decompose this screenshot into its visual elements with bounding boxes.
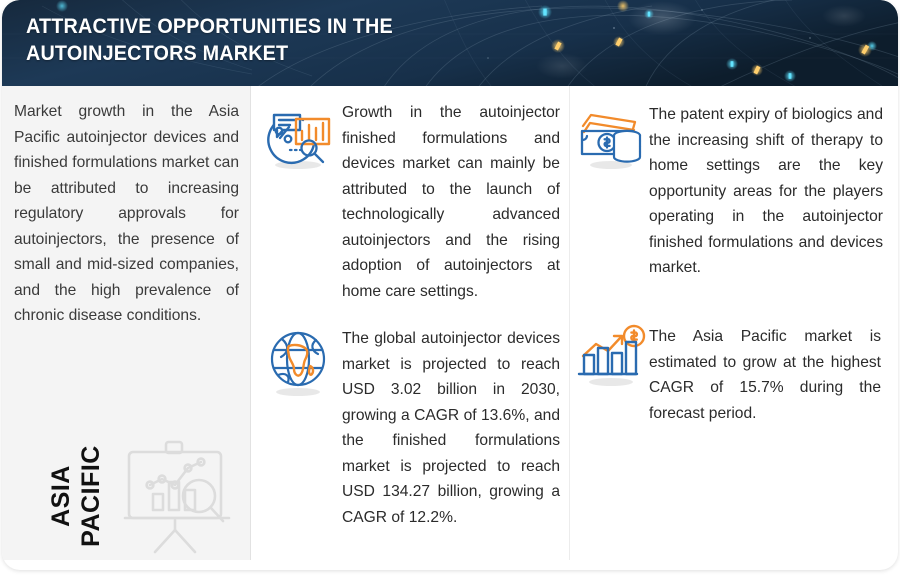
- presentation-board-analytics-icon: [122, 438, 234, 556]
- money-coins-icon: [577, 102, 647, 170]
- header-banner: ATTRACTIVE OPPORTUNITIES IN THE AUTOINJE…: [2, 0, 898, 86]
- page-title: ATTRACTIVE OPPORTUNITIES IN THE AUTOINJE…: [26, 13, 541, 67]
- growth-chart-dollar-icon: [575, 324, 649, 392]
- right-column: The patent expiry of biologics and the i…: [571, 86, 898, 560]
- region-label: ASIA PACIFIC: [46, 416, 106, 570]
- content-block: The patent expiry of biologics and the i…: [577, 102, 892, 281]
- content-block-text: The Asia Pacific market is estimated to …: [649, 324, 881, 426]
- card-body: ATTRACTIVE OPPORTUNITIES IN THE AUTOINJE…: [2, 0, 898, 570]
- content-block: The Asia Pacific market is estimated to …: [575, 324, 893, 426]
- content-block-text: The patent expiry of biologics and the i…: [649, 102, 883, 281]
- left-panel-paragraph: Market growth in the Asia Pacific autoin…: [14, 99, 239, 329]
- content-block: The global autoinjector devices market i…: [260, 326, 562, 530]
- content-block-text: Growth in the autoinjector finished form…: [342, 100, 560, 304]
- content-block: Growth in the autoinjector finished form…: [262, 100, 562, 304]
- content-area: Market growth in the Asia Pacific autoin…: [2, 86, 898, 570]
- market-analysis-percent-icon: [262, 100, 336, 170]
- content-block-text: The global autoinjector devices market i…: [342, 326, 560, 530]
- left-panel: Market growth in the Asia Pacific autoin…: [2, 86, 251, 560]
- globe-icon: [260, 326, 336, 398]
- middle-column: Growth in the autoinjector finished form…: [252, 86, 570, 560]
- infographic-card: ATTRACTIVE OPPORTUNITIES IN THE AUTOINJE…: [0, 0, 900, 580]
